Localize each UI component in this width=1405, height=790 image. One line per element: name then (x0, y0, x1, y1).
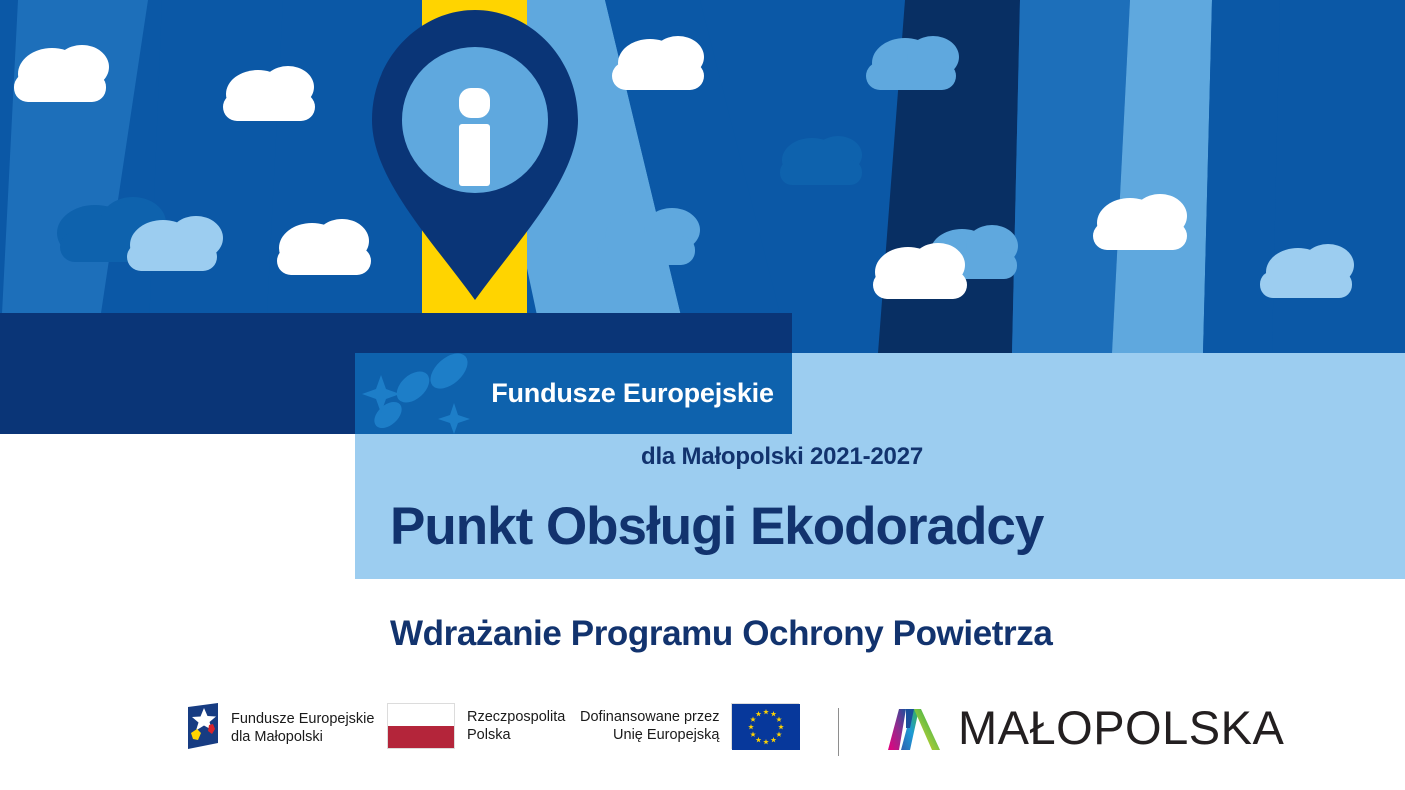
stripe-9 (1272, 0, 1405, 353)
hero-banner (0, 0, 1405, 353)
footer-divider (838, 708, 839, 756)
footer-logo-bar: Fundusze Europejskie dla Małopolski Rzec… (0, 690, 1405, 790)
page-title: Punkt Obsługi Ekodoradcy (390, 490, 1290, 562)
logo-malopolska: MAŁOPOLSKA (884, 698, 1284, 756)
stripe-2 (148, 0, 283, 353)
fundusze-europejskie-bar: Fundusze Europejskie (355, 353, 792, 434)
stripe-6 (1012, 0, 1130, 353)
page-subtitle: Wdrażanie Programu Ochrony Powietrza (390, 605, 1340, 663)
slide-canvas: Fundusze Europejskie dla Małopolski 2021… (0, 0, 1405, 790)
logo-fe-text: Fundusze Europejskie dla Małopolski (231, 710, 374, 746)
logo-fundusze-europejskie: Fundusze Europejskie dla Małopolski (182, 703, 374, 753)
logo-eu-line2: Unię Europejską (580, 726, 719, 744)
logo-rp-line2: Polska (467, 726, 565, 744)
logo-eu-text: Dofinansowane przez Unię Europejską (580, 708, 719, 744)
logo-dofinansowane-ue: Dofinansowane przez Unię Europejską (580, 703, 799, 749)
fe-bar-label: Fundusze Europejskie (473, 353, 792, 434)
logo-rp-text: Rzeczpospolita Polska (467, 708, 565, 744)
logo-fe-line1: Fundusze Europejskie (231, 710, 374, 728)
logo-eu-line1: Dofinansowane przez (580, 708, 719, 726)
stripe-8 (1203, 0, 1280, 353)
poland-flag-icon (387, 703, 455, 749)
logo-rzeczpospolita-polska: Rzeczpospolita Polska (387, 703, 565, 749)
pin-i-dot (459, 88, 490, 118)
programme-line: dla Małopolski 2021-2027 (355, 434, 1209, 480)
malopolska-wordmark: MAŁOPOLSKA (958, 700, 1284, 755)
logo-rp-line1: Rzeczpospolita (467, 708, 565, 726)
abstract-stars-pattern-icon (355, 353, 473, 434)
eu-flag-icon (731, 703, 799, 749)
pin-i-stem (459, 124, 490, 186)
fe-flag-star-logo-icon (182, 703, 222, 753)
logo-fe-line2: dla Małopolski (231, 728, 374, 746)
malopolska-mountain-logo-icon (884, 698, 946, 756)
sky-illustration (0, 0, 1405, 353)
